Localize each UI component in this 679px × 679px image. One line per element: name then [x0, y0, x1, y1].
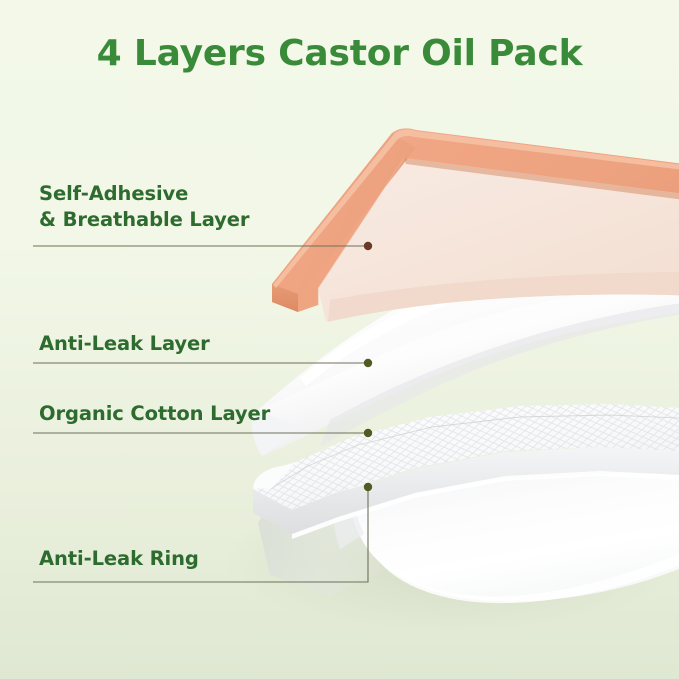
callout-label-anti-leak-layer: Anti-Leak Layer	[39, 331, 210, 357]
callout-label-organic-cotton: Organic Cotton Layer	[39, 401, 270, 427]
infographic-canvas: 4 Layers Castor Oil Pack Self-Adhesive &…	[0, 0, 679, 679]
leader-dot-anti-leak-layer	[364, 359, 372, 367]
leader-dot-organic-cotton	[364, 429, 372, 437]
callout-label-self-adhesive: Self-Adhesive & Breathable Layer	[39, 181, 249, 234]
leader-dot-anti-leak-ring	[364, 483, 372, 491]
leader-dot-self-adhesive	[364, 242, 372, 250]
page-title: 4 Layers Castor Oil Pack	[0, 33, 679, 74]
callout-label-anti-leak-ring: Anti-Leak Ring	[39, 546, 199, 572]
